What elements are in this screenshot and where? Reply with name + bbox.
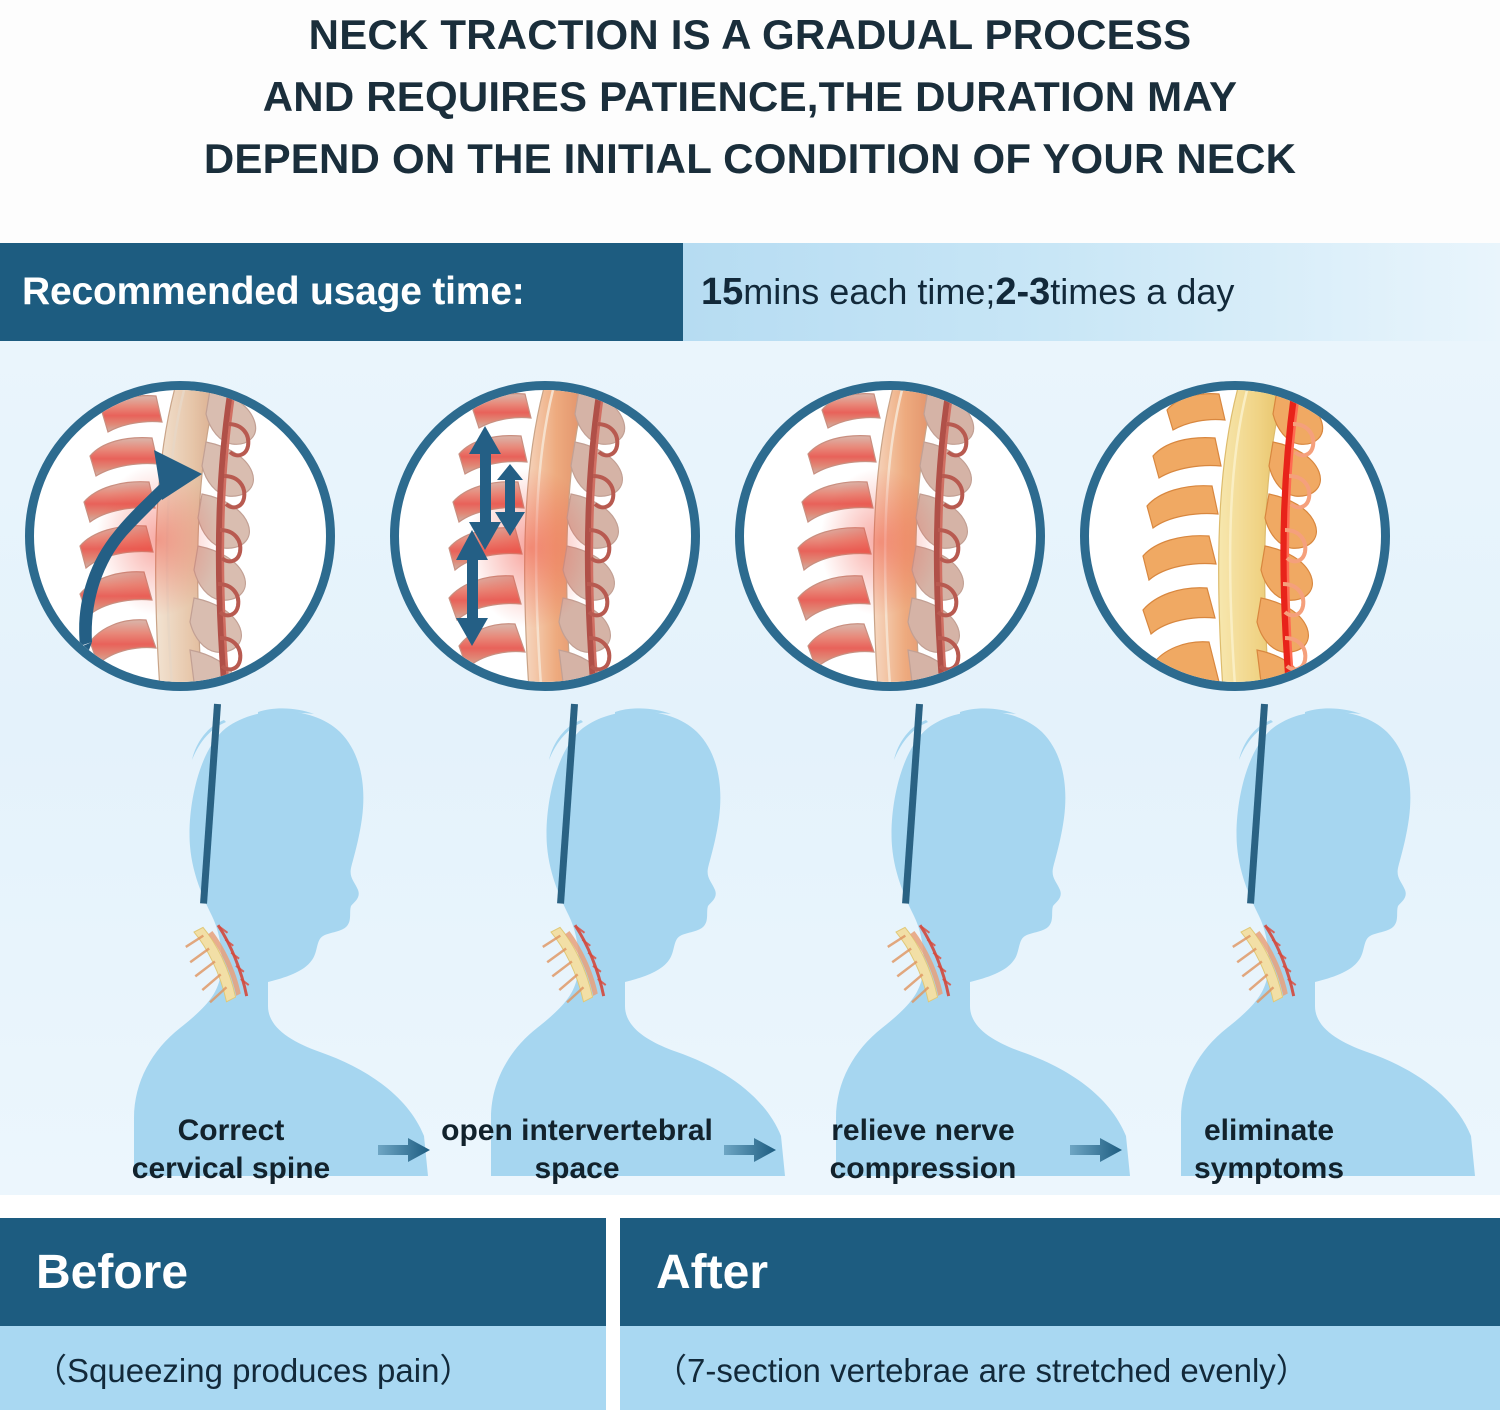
illustration-circle-2 [390,381,700,691]
after-heading-bar: After [620,1218,1500,1326]
banner-value-times: 2-3 [995,271,1050,314]
banner-value-minutes-unit: mins each time; [743,271,995,313]
before-after-section: Before （Squeezing produces pain） After （… [0,1218,1500,1410]
after-panel: After （7-section vertebrae are stretched… [620,1218,1500,1410]
before-heading: Before [36,1245,188,1300]
title-line-2: AND REQUIRES PATIENCE,THE DURATION MAY [263,66,1237,128]
title-line-1: NECK TRACTION IS A GRADUAL PROCESS [309,4,1192,66]
before-caption-bar: （Squeezing produces pain） [0,1326,606,1410]
step-label-2: open intervertebral space [432,1112,722,1189]
before-heading-bar: Before [0,1218,606,1326]
step-label-2-line1: open intervertebral [432,1112,722,1150]
title-line-3: DEPEND ON THE INITIAL CONDITION OF YOUR … [204,128,1296,190]
step-label-3-line1: relieve nerve [778,1112,1068,1150]
before-caption: （Squeezing produces pain） [34,1344,472,1392]
right-arrow-icon-1 [378,1137,430,1163]
step-label-3-line2: compression [778,1150,1068,1188]
process-steps: Correct cervical spine open intervertebr… [0,1105,1500,1195]
banner-value-area: 15mins each time; 2-3 times a day [683,243,1500,341]
step-label-4: eliminate symptoms [1124,1112,1414,1189]
spine-anatomy-3 [798,390,974,682]
banner-value-times-unit: times a day [1050,271,1234,313]
right-arrow-icon-3 [1070,1137,1122,1163]
illustration-circle-1 [25,381,335,691]
after-heading: After [656,1245,768,1300]
step-label-1: Correct cervical spine [86,1112,376,1189]
after-caption-bar: （7-section vertebrae are stretched evenl… [620,1326,1500,1410]
banner-label: Recommended usage time: [22,270,525,314]
illustration-circle-3 [735,381,1045,691]
step-label-1-line2: cervical spine [86,1150,376,1188]
step-label-1-line1: Correct [86,1112,376,1150]
after-caption: （7-section vertebrae are stretched evenl… [654,1344,1309,1392]
illustration-area [0,341,1500,1195]
step-label-4-line2: symptoms [1124,1150,1414,1188]
before-panel: Before （Squeezing produces pain） [0,1218,606,1410]
illustration-circle-4 [1080,381,1390,691]
panel-divider [606,1218,620,1410]
banner-value-minutes: 15 [701,271,743,314]
recommended-usage-banner: Recommended usage time: 15mins each time… [0,243,1500,341]
step-label-4-line1: eliminate [1124,1112,1414,1150]
spine-anatomy-1 [80,390,256,682]
page-title: NECK TRACTION IS A GRADUAL PROCESS AND R… [0,0,1500,243]
spine-anatomy-4 [1143,390,1323,682]
right-arrow-icon-2 [724,1137,776,1163]
step-label-2-line2: space [432,1150,722,1188]
step-label-3: relieve nerve compression [778,1112,1068,1189]
banner-label-area: Recommended usage time: [0,243,683,341]
